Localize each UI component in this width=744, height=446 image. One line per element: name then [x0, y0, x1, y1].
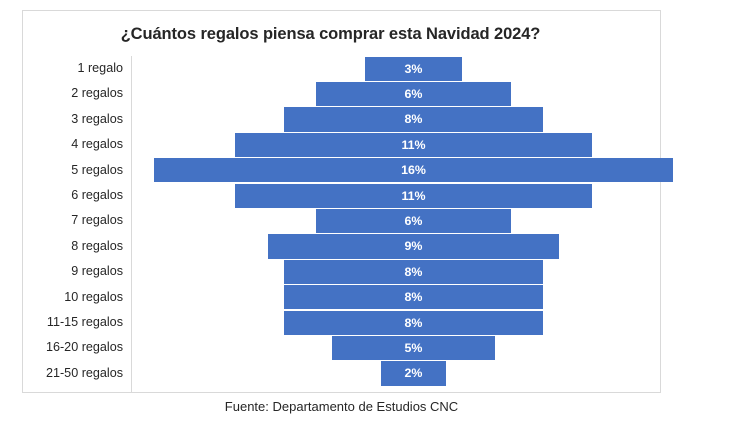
category-label: 10 regalos — [23, 285, 123, 310]
category-label: 5 regalos — [23, 158, 123, 183]
bar-value-label: 3% — [365, 57, 462, 81]
bar-value-label: 11% — [235, 133, 592, 157]
bar[interactable]: 5% — [332, 336, 494, 360]
bar[interactable]: 3% — [365, 57, 462, 81]
bar[interactable]: 6% — [316, 82, 511, 106]
bar-row: 6 regalos11% — [23, 183, 660, 208]
category-label: 11-15 regalos — [23, 310, 123, 335]
bar-row: 7 regalos6% — [23, 208, 660, 233]
bar[interactable]: 8% — [284, 260, 544, 284]
category-label: 1 regalo — [23, 56, 123, 81]
bar-value-label: 8% — [284, 260, 544, 284]
bar-track: 9% — [132, 234, 660, 259]
plot-area: 1 regalo3%2 regalos6%3 regalos8%4 regalo… — [23, 56, 660, 392]
bar-row: 1 regalo3% — [23, 56, 660, 81]
bar-track: 3% — [132, 56, 660, 81]
bar-value-label: 6% — [316, 82, 511, 106]
bar-row: 2 regalos6% — [23, 81, 660, 106]
category-label: 21-50 regalos — [23, 361, 123, 386]
bar-row: 21-50 regalos2% — [23, 361, 660, 386]
bar-rows: 1 regalo3%2 regalos6%3 regalos8%4 regalo… — [23, 56, 660, 392]
bar-row: 3 regalos8% — [23, 107, 660, 132]
bar-track: 8% — [132, 310, 660, 335]
bar-row: 11-15 regalos8% — [23, 310, 660, 335]
bar-track: 11% — [132, 183, 660, 208]
bar-value-label: 5% — [332, 336, 494, 360]
bar[interactable]: 2% — [381, 361, 446, 385]
bar[interactable]: 8% — [284, 107, 544, 131]
bar[interactable]: 6% — [316, 209, 511, 233]
bar-track: 5% — [132, 335, 660, 360]
bar[interactable]: 11% — [235, 133, 592, 157]
bar-value-label: 8% — [284, 285, 544, 309]
bar-value-label: 2% — [381, 361, 446, 385]
category-label: 8 regalos — [23, 234, 123, 259]
bar[interactable]: 16% — [154, 158, 673, 182]
bar-track: 2% — [132, 361, 660, 386]
bar-value-label: 8% — [284, 107, 544, 131]
bar[interactable]: 8% — [284, 311, 544, 335]
bar-track: 11% — [132, 132, 660, 157]
bar-track: 8% — [132, 285, 660, 310]
bar[interactable]: 11% — [235, 184, 592, 208]
bar[interactable]: 9% — [268, 234, 560, 258]
bar-value-label: 8% — [284, 311, 544, 335]
category-label: 9 regalos — [23, 259, 123, 284]
category-label: 16-20 regalos — [23, 335, 123, 360]
bar-value-label: 6% — [316, 209, 511, 233]
chart-frame: ¿Cuántos regalos piensa comprar esta Nav… — [22, 10, 661, 393]
category-label: 2 regalos — [23, 81, 123, 106]
bar-track: 6% — [132, 208, 660, 233]
bar-row: 10 regalos8% — [23, 285, 660, 310]
bar-row: 16-20 regalos5% — [23, 335, 660, 360]
bar-value-label: 11% — [235, 184, 592, 208]
category-label: 3 regalos — [23, 107, 123, 132]
chart-screenshot: ¿Cuántos regalos piensa comprar esta Nav… — [0, 0, 744, 446]
bar-track: 6% — [132, 81, 660, 106]
category-label: 6 regalos — [23, 183, 123, 208]
bar-row: 5 regalos16% — [23, 158, 660, 183]
bar[interactable]: 8% — [284, 285, 544, 309]
bar-row: 9 regalos8% — [23, 259, 660, 284]
source-note: Fuente: Departamento de Estudios CNC — [22, 399, 661, 414]
bar-track: 8% — [132, 259, 660, 284]
category-label: 7 regalos — [23, 208, 123, 233]
chart-title: ¿Cuántos regalos piensa comprar esta Nav… — [23, 25, 638, 44]
bar-row: 4 regalos11% — [23, 132, 660, 157]
bar-track: 16% — [132, 158, 660, 183]
bar-track: 8% — [132, 107, 660, 132]
bar-value-label: 16% — [154, 158, 673, 182]
category-label: 4 regalos — [23, 132, 123, 157]
bar-value-label: 9% — [268, 234, 560, 258]
bar-row: 8 regalos9% — [23, 234, 660, 259]
